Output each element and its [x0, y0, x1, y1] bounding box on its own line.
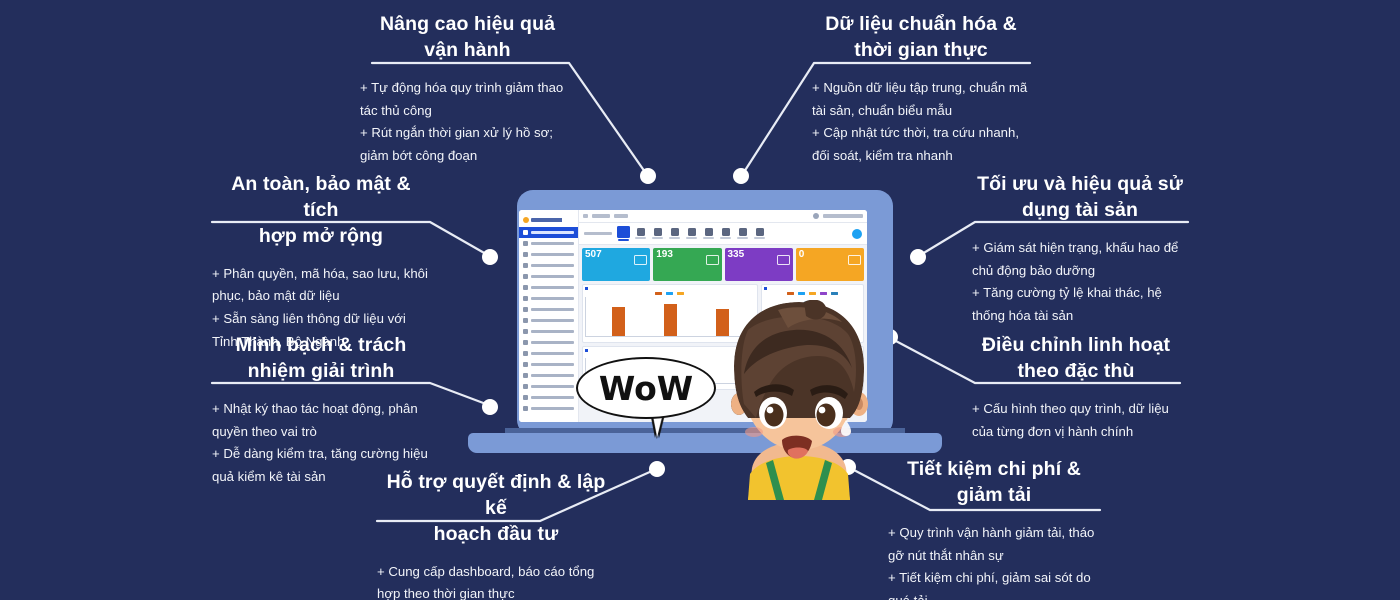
sidebar-item-dashboard[interactable] [519, 227, 578, 238]
quick-action-2[interactable] [635, 228, 646, 240]
pie-icon [764, 287, 767, 290]
legend-item-1 [787, 292, 794, 295]
printer-icon [523, 362, 528, 367]
dashboard-sidebar [519, 210, 579, 422]
info-icon [671, 228, 679, 236]
connector-node-standardized-data [733, 168, 749, 184]
legend-item-2 [666, 292, 673, 295]
callout-cost-saving-line-2: + Tiết kiệm chi phí, giảm sai sót do quá… [888, 567, 1100, 600]
connector-node-operations [640, 168, 656, 184]
legend-item-4 [820, 292, 827, 295]
callout-security-title: An toàn, bảo mật & tích hợp mở rộng [212, 172, 430, 250]
doc-icon [523, 296, 528, 301]
bar-2 [664, 304, 677, 335]
callout-flexibility: Điều chỉnh linh hoạt theo đặc thù + Cấu … [972, 333, 1180, 443]
quick-action-label [618, 239, 629, 241]
gear-icon [705, 228, 713, 236]
sidebar-item-14[interactable] [519, 370, 578, 381]
callout-operations-line-2: + Rút ngắn thời gian xử lý hồ sơ; giảm b… [360, 122, 575, 167]
callout-optimization-line-1: + Giám sát hiện trạng, khấu hao để chủ đ… [972, 237, 1188, 282]
callout-cost-saving-line-1: + Quy trình vận hành giảm tải, tháo gỡ n… [888, 522, 1100, 567]
legend-swatch [677, 292, 684, 295]
callout-standardized-data-line-2: + Cập nhật tức thời, tra cứu nhanh, đối … [812, 122, 1030, 167]
building-icon [523, 340, 528, 345]
callout-operations-line-1: + Tự động hóa quy trình giảm thao tác th… [360, 77, 575, 122]
menu-toggle-icon[interactable] [583, 214, 588, 218]
callout-optimization-title: Tối ưu và hiệu quả sử dụng tài sản [972, 172, 1188, 224]
sidebar-item-label [531, 286, 574, 290]
callout-operations-title: Nâng cao hiệu quả vận hành [360, 12, 575, 64]
tag-icon [523, 373, 528, 378]
kpi-cards: 507 193 335 [579, 245, 867, 284]
x-tick-2 [670, 337, 671, 340]
grid-icon [523, 252, 528, 257]
bar-1 [612, 307, 625, 335]
quick-action-label [720, 237, 731, 239]
hair-top-knot [804, 300, 826, 319]
folder-icon [523, 263, 528, 268]
boy-character-illustration [718, 300, 880, 500]
callout-optimization-line-2: + Tăng cường tỷ lệ khai thác, hệ thống h… [972, 282, 1188, 327]
logo-wordmark [531, 218, 575, 222]
legend-item-2 [798, 292, 805, 295]
callout-flexibility-line-1: + Cấu hình theo quy trình, dữ liệu của t… [972, 398, 1180, 443]
sidebar-item-3[interactable] [519, 249, 578, 260]
callout-security: An toàn, bảo mật & tích hợp mở rộng + Ph… [212, 172, 430, 354]
search-icon [654, 228, 662, 236]
eye-highlight-left [767, 407, 774, 414]
sidebar-item-label [531, 275, 574, 279]
pupil-right [817, 404, 836, 427]
legend-swatch [798, 292, 805, 295]
x-tick-1 [617, 337, 618, 340]
quick-action-label [754, 237, 765, 239]
sidebar-item-8[interactable] [519, 304, 578, 315]
callout-standardized-data-line-1: + Nguồn dữ liệu tập trung, chuẩn mã tài … [812, 77, 1030, 122]
callout-decision-support: Hỗ trợ quyết định & lập kế hoạch đầu tư … [377, 470, 615, 600]
list-icon [706, 255, 719, 265]
quick-action-label [686, 237, 697, 239]
legend-item-3 [677, 292, 684, 295]
callout-flexibility-title: Điều chỉnh linh hoạt theo đặc thù [972, 333, 1180, 385]
clock-icon [722, 228, 730, 236]
sidebar-item-16[interactable] [519, 392, 578, 403]
sidebar-item-label [531, 352, 574, 356]
download-icon [637, 228, 645, 236]
search-icon [523, 384, 528, 389]
callout-transparency-title: Minh bạch & trách nhiệm giải trình [212, 333, 430, 385]
monitor-icon [777, 255, 790, 265]
quick-action-5[interactable] [686, 228, 697, 240]
breadcrumb-secondary [614, 214, 628, 218]
sidebar-item-12[interactable] [519, 348, 578, 359]
quick-action-6[interactable] [703, 228, 714, 240]
sidebar-item-label [531, 363, 574, 367]
callout-optimization: Tối ưu và hiệu quả sử dụng tài sản + Giá… [972, 172, 1188, 328]
quick-action-label [635, 237, 646, 239]
quick-action-1[interactable] [618, 226, 629, 242]
callout-transparency: Minh bạch & trách nhiệm giải trình + Nhậ… [212, 333, 430, 489]
connector-node-decision-support [649, 461, 665, 477]
transfer-icon [688, 228, 696, 236]
quick-action-label [669, 237, 680, 239]
sidebar-item-10[interactable] [519, 326, 578, 337]
callout-decision-support-body: + Cung cấp dashboard, báo cáo tổng hợp t… [377, 561, 615, 600]
sidebar-item-15[interactable] [519, 381, 578, 392]
callout-optimization-body: + Giám sát hiện trạng, khấu hao để chủ đ… [972, 237, 1188, 328]
callout-standardized-data: Dữ liệu chuẩn hóa & thời gian thực + Ngu… [812, 12, 1030, 168]
user-name-label [823, 214, 863, 218]
connector-node-transparency [482, 399, 498, 415]
sidebar-item-label [531, 297, 574, 301]
sidebar-item-2[interactable] [519, 238, 578, 249]
sidebar-item-6[interactable] [519, 282, 578, 293]
callout-cost-saving-title: Tiết kiệm chi phí & giảm tải [888, 457, 1100, 509]
sidebar-item-label [531, 319, 574, 323]
sidebar-item-label [531, 341, 574, 345]
speech-bubble-text: WoW [599, 369, 693, 408]
sidebar-item-label [531, 242, 574, 246]
legend-item-3 [809, 292, 816, 295]
pie-chart-title [764, 287, 861, 290]
callout-cost-saving-body: + Quy trình vận hành giảm tải, tháo gỡ n… [888, 522, 1100, 600]
logo-mark-icon [523, 217, 529, 223]
kpi-card-4[interactable]: 0 [796, 248, 864, 281]
callout-operations-body: + Tự động hóa quy trình giảm thao tác th… [360, 77, 575, 168]
legend-item-5 [831, 292, 838, 295]
sidebar-item-label [531, 374, 574, 378]
avatar[interactable] [813, 213, 819, 219]
quick-action-label [703, 237, 714, 239]
speech-bubble-body: WoW [576, 357, 716, 419]
callout-cost-saving: Tiết kiệm chi phí & giảm tải + Quy trình… [888, 457, 1100, 600]
archive-icon [523, 351, 528, 356]
chart-icon [523, 274, 528, 279]
sidebar-item-label [531, 396, 574, 400]
sidebar-item-label [531, 407, 574, 411]
legend-swatch [666, 292, 673, 295]
user-icon [756, 228, 764, 236]
sidebar-item-17[interactable] [519, 403, 578, 414]
quick-action-9[interactable] [754, 228, 765, 240]
car-icon [523, 318, 528, 323]
quick-action-4[interactable] [669, 228, 680, 240]
callout-flexibility-body: + Cấu hình theo quy trình, dữ liệu của t… [972, 398, 1180, 443]
kpi-card-2[interactable]: 193 [653, 248, 721, 281]
dashboard-quick-actions [579, 223, 867, 245]
legend-swatch [655, 292, 662, 295]
sidebar-item-9[interactable] [519, 315, 578, 326]
blush-left [745, 427, 763, 437]
dashboard-topbar [579, 210, 867, 223]
pin-icon [523, 395, 528, 400]
truck-icon [739, 228, 747, 236]
list-icon [523, 241, 528, 246]
kpi-footer [718, 276, 719, 280]
trash-icon [523, 406, 528, 411]
callout-standardized-data-title: Dữ liệu chuẩn hóa & thời gian thực [812, 12, 1030, 64]
kpi-footer [646, 276, 647, 280]
laptop-icon [634, 255, 647, 265]
quick-action-3[interactable] [652, 228, 663, 240]
connector-node-optimization [910, 249, 926, 265]
legend-swatch [831, 292, 838, 295]
quick-action-7[interactable] [720, 228, 731, 240]
eye-highlight-right [819, 407, 826, 414]
kpi-footer [789, 276, 790, 280]
sidebar-item-7[interactable] [519, 293, 578, 304]
bar-chart-legend [585, 292, 755, 295]
sidebar-item-label [531, 231, 574, 235]
connector-node-security [482, 249, 498, 265]
clipboard-icon [523, 307, 528, 312]
chart-icon [585, 287, 588, 290]
callout-operations: Nâng cao hiệu quả vận hành + Tự động hóa… [360, 12, 575, 168]
legend-swatch [809, 292, 816, 295]
list-icon [848, 255, 861, 265]
briefcase-icon [617, 226, 630, 238]
section-label [584, 232, 612, 236]
callout-decision-support-title: Hỗ trợ quyết định & lập kế hoạch đầu tư [377, 470, 615, 548]
callout-transparency-line-1: + Nhật ký thao tác hoạt động, phân quyền… [212, 398, 430, 443]
dashboard-icon [523, 230, 528, 235]
pie-chart-legend [764, 292, 861, 295]
callout-standardized-data-body: + Nguồn dữ liệu tập trung, chuẩn mã tài … [812, 77, 1030, 168]
quick-action-label [737, 237, 748, 239]
sidebar-item-label [531, 264, 574, 268]
gear-icon [523, 329, 528, 334]
bar-chart-title [585, 287, 755, 290]
chart-icon [585, 349, 588, 352]
box-icon [523, 285, 528, 290]
dashboard-logo [519, 213, 578, 227]
infographic-canvas: Nâng cao hiệu quả vận hành + Tự động hóa… [0, 0, 1400, 600]
help-button[interactable] [852, 229, 862, 239]
quick-action-8[interactable] [737, 228, 748, 240]
legend-item-1 [655, 292, 662, 295]
sidebar-item-4[interactable] [519, 260, 578, 271]
sidebar-item-5[interactable] [519, 271, 578, 282]
kpi-card-3[interactable]: 335 [725, 248, 793, 281]
sidebar-item-label [531, 253, 574, 257]
pupil-left [765, 404, 784, 427]
callout-security-line-1: + Phân quyền, mã hóa, sao lưu, khôi phục… [212, 263, 430, 308]
quick-action-label [652, 237, 663, 239]
speech-bubble: WoW [576, 357, 716, 419]
sidebar-item-label [531, 308, 574, 312]
sidebar-item-13[interactable] [519, 359, 578, 370]
legend-swatch [787, 292, 794, 295]
legend-swatch [820, 292, 827, 295]
kpi-footer [860, 276, 861, 280]
kpi-card-1[interactable]: 507 [582, 248, 650, 281]
sidebar-item-label [531, 385, 574, 389]
callout-decision-support-line-1: + Cung cấp dashboard, báo cáo tổng hợp t… [377, 561, 615, 600]
sidebar-item-label [531, 330, 574, 334]
breadcrumb [592, 214, 610, 218]
sidebar-item-11[interactable] [519, 337, 578, 348]
